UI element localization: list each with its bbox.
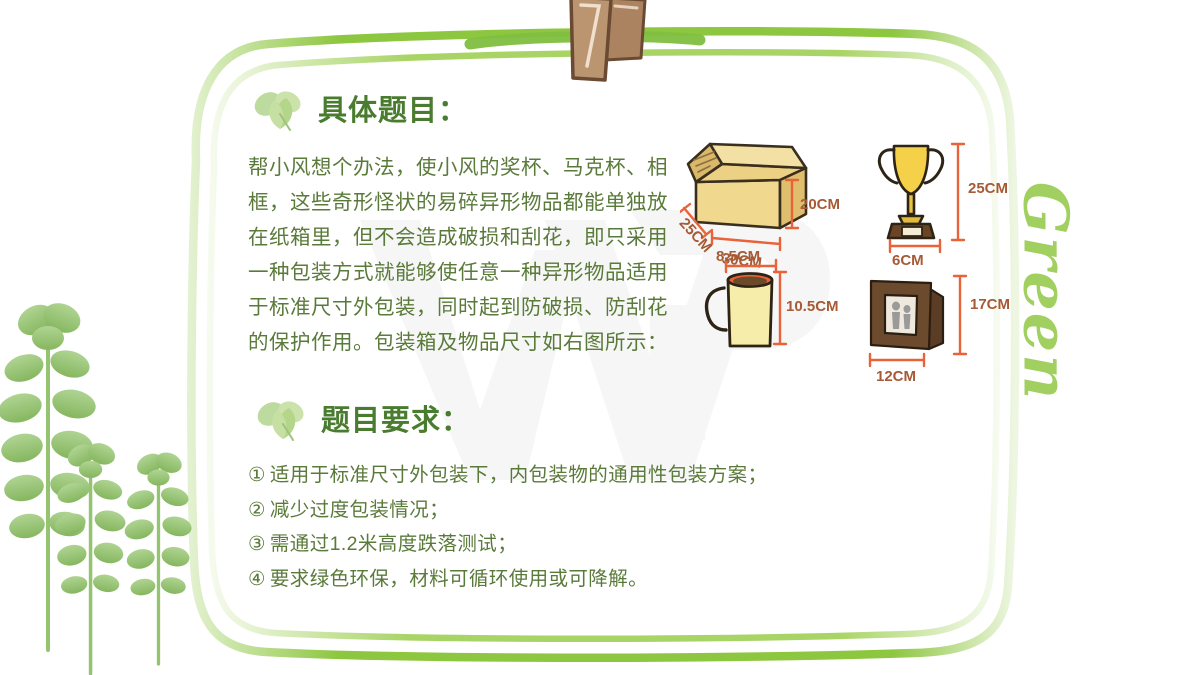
list-item: ①适用于标准尺寸外包装下，内包装物的通用性包装方案； <box>248 458 848 493</box>
leaf-pair-icon <box>255 398 311 444</box>
section-heading-specific-text: 具体题目： <box>318 97 468 126</box>
dim-label-mug-width: 8.5CM <box>716 248 760 265</box>
paragraph-line: 帮小风想个办法，使小风的奖杯、马克杯、相 <box>248 150 668 185</box>
list-item-number: ④ <box>248 568 266 590</box>
paragraph-line: 于标准尺寸外包装，同时起到防破损、防刮花 <box>248 290 668 325</box>
paragraph-line: 的保护作用。包装箱及物品尺寸如右图所示： <box>248 325 668 360</box>
paragraph-line: 一种包装方式就能够使任意一种异形物品适用 <box>248 255 668 290</box>
section-heading-requirements: 题目要求： <box>255 398 471 444</box>
list-item-number: ③ <box>248 533 266 555</box>
slide-content: 具体题目： 帮小风想个办法，使小风的奖杯、马克杯、相 框，这些奇形怪状的易碎异形… <box>0 0 1200 675</box>
dim-label-mug-height: 10.5CM <box>786 298 839 315</box>
paragraph-line: 框，这些奇形怪状的易碎异形物品都能单独放 <box>248 185 668 220</box>
list-item-text: 减少过度包装情况； <box>270 499 449 521</box>
list-item-number: ② <box>248 499 266 521</box>
dim-label-box-height: 20CM <box>800 196 840 213</box>
list-item-text: 需通过1.2米高度跌落测试； <box>270 533 517 555</box>
list-item: ②减少过度包装情况； <box>248 493 848 528</box>
dimension-illustration: 20CM 30CM 25CM 25CM 6CM <box>680 128 1020 378</box>
requirements-list: ①适用于标准尺寸外包装下，内包装物的通用性包装方案； ②减少过度包装情况； ③需… <box>248 458 848 596</box>
dim-label-frame-width: 12CM <box>876 368 916 385</box>
list-item: ③需通过1.2米高度跌落测试； <box>248 527 848 562</box>
list-item-number: ① <box>248 464 266 486</box>
specific-paragraph: 帮小风想个办法，使小风的奖杯、马克杯、相 框，这些奇形怪状的易碎异形物品都能单独… <box>248 150 668 360</box>
dim-label-trophy-height: 25CM <box>968 180 1008 197</box>
list-item-text: 要求绿色环保，材料可循环使用或可降解。 <box>270 568 648 590</box>
paragraph-line: 在纸箱里，但不会造成破损和刮花，即只采用 <box>248 220 668 255</box>
list-item: ④要求绿色环保，材料可循环使用或可降解。 <box>248 562 848 597</box>
frame-dimension-lines <box>850 258 1010 388</box>
section-heading-specific: 具体题目： <box>252 88 468 134</box>
list-item-text: 适用于标准尺寸外包装下，内包装物的通用性包装方案； <box>270 464 768 486</box>
slide-canvas: Green 具体题目： 帮小风想个办法，使小风的奖杯、马克杯、相 框，这些奇形怪… <box>0 0 1200 675</box>
leaf-pair-icon <box>252 88 308 134</box>
dim-label-frame-height: 17CM <box>970 296 1010 313</box>
section-heading-requirements-text: 题目要求： <box>321 407 471 436</box>
